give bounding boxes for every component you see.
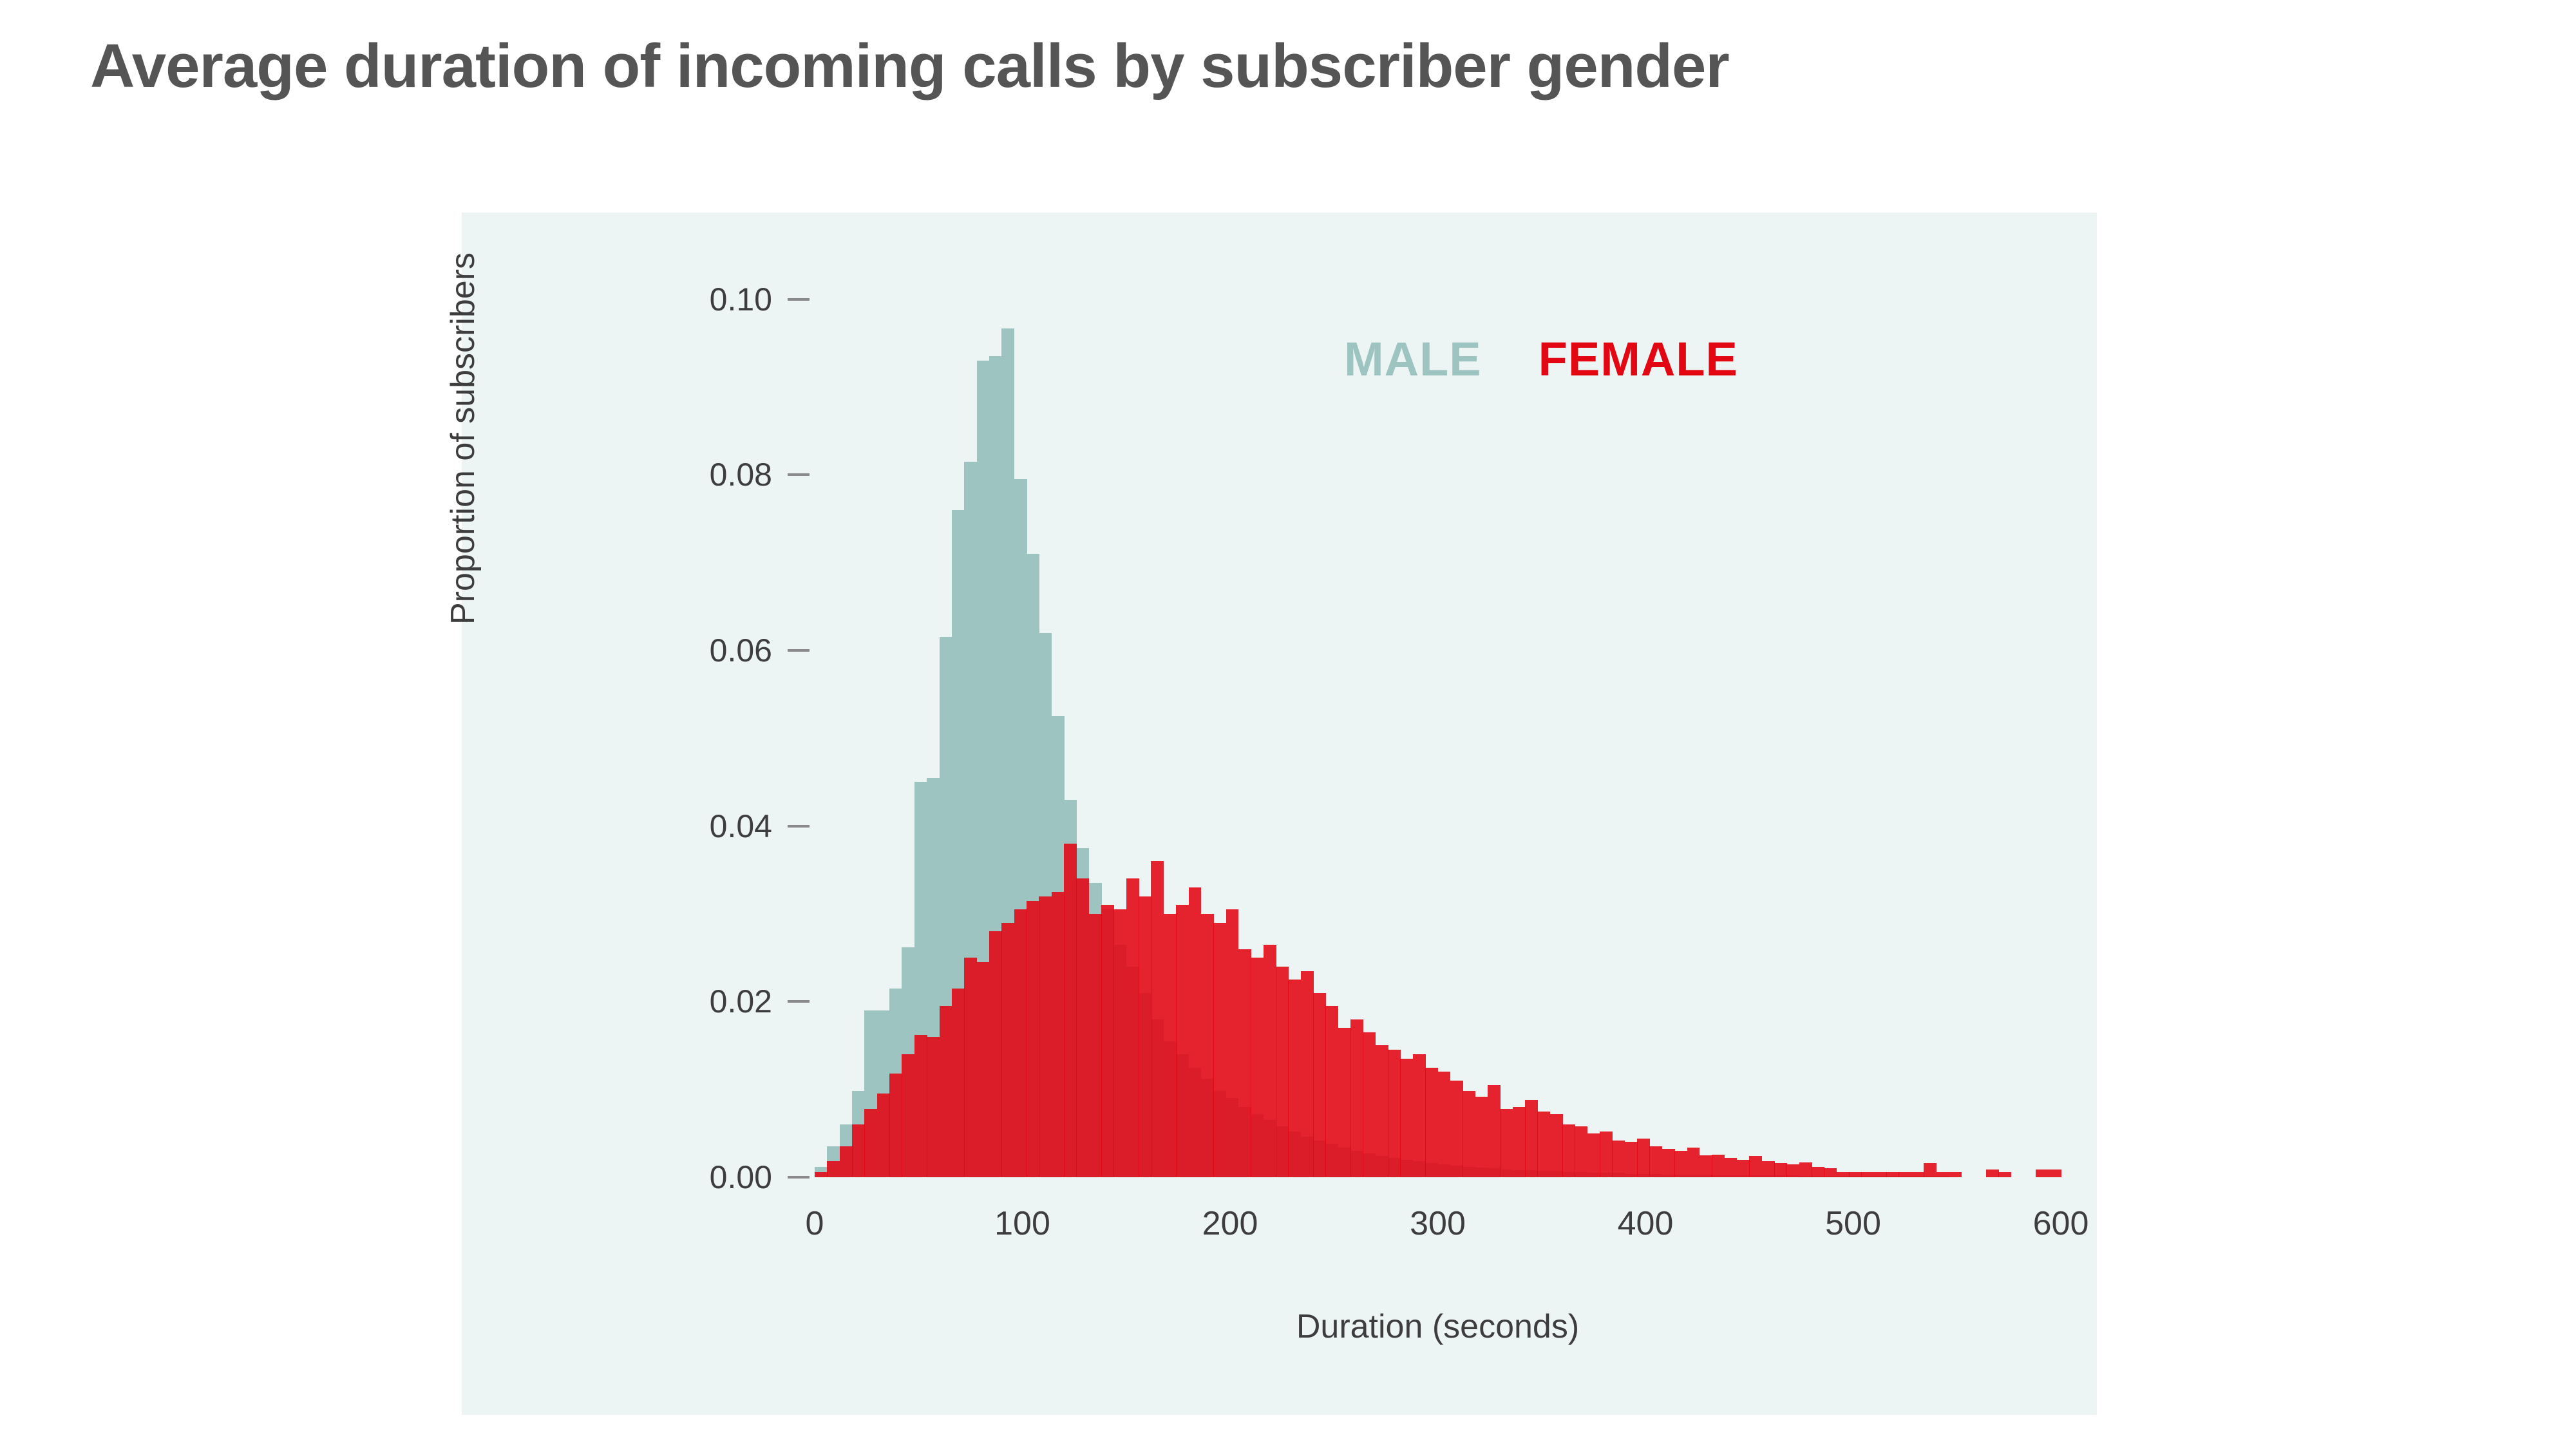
legend-item-female[interactable]: FEMALE xyxy=(1539,332,1738,386)
histogram-bar-female xyxy=(1438,1072,1451,1177)
histogram-bar-female xyxy=(1064,844,1077,1177)
histogram-bar-female xyxy=(1113,909,1126,1177)
histogram-bar-female xyxy=(1388,1050,1401,1177)
x-axis: 0100200300400500600 xyxy=(815,1204,2061,1262)
histogram-bar-female xyxy=(1837,1172,1850,1177)
histogram-bar-female xyxy=(1089,914,1102,1177)
histogram-bar-female xyxy=(1151,861,1164,1177)
histogram-bar-female xyxy=(1313,993,1326,1177)
histogram-bar-female xyxy=(1338,1028,1351,1177)
histogram-bar-female xyxy=(902,1054,914,1177)
y-axis-tick-mark xyxy=(788,298,810,301)
histogram-bar-female xyxy=(989,931,1002,1177)
histogram-bar-female xyxy=(1350,1019,1363,1177)
histogram-bar-female xyxy=(1899,1172,1911,1177)
histogram-bar-female xyxy=(1575,1126,1587,1177)
histogram-bar-female xyxy=(964,958,977,1177)
histogram-bar-female xyxy=(1949,1172,1962,1177)
histogram-bar-female xyxy=(1924,1163,1937,1177)
x-axis-title: Duration (seconds) xyxy=(815,1307,2061,1346)
histogram-bar-female xyxy=(1886,1172,1899,1177)
histogram-bar-female xyxy=(927,1037,940,1177)
y-axis-tick-mark xyxy=(788,825,810,828)
histogram-bar-female xyxy=(977,962,990,1177)
histogram-bar-female xyxy=(1998,1172,2011,1177)
histogram-bar-female xyxy=(1301,971,1314,1177)
histogram-bar-female xyxy=(1164,914,1177,1177)
histogram-bar-female xyxy=(877,1094,890,1177)
x-axis-tick-label: 100 xyxy=(994,1204,1050,1243)
y-axis-tick-mark xyxy=(788,473,810,476)
histogram-bar-female xyxy=(1762,1161,1775,1177)
histogram-bar-female xyxy=(1786,1164,1799,1177)
histogram-bar-female xyxy=(1911,1172,1924,1177)
x-axis-tick-label: 500 xyxy=(1825,1204,1881,1243)
histogram-bar-female xyxy=(1201,914,1214,1177)
histogram-bar-female xyxy=(1725,1158,1738,1177)
histogram-bar-female xyxy=(1213,923,1226,1177)
histogram-bar-female xyxy=(1076,878,1089,1177)
histogram-bar-female xyxy=(1425,1068,1438,1177)
histogram-bar-female xyxy=(1276,967,1289,1177)
histogram-bar-female xyxy=(1687,1148,1700,1177)
histogram-bar-female xyxy=(1139,896,1151,1177)
histogram-bar-female xyxy=(1550,1114,1563,1177)
histogram-bar-female xyxy=(1376,1045,1388,1177)
histogram-bar-female xyxy=(914,1035,927,1177)
page-title: Average duration of incoming calls by su… xyxy=(90,31,1729,102)
histogram-bars xyxy=(815,264,2061,1177)
histogram-bar-female xyxy=(2049,1170,2061,1177)
histogram-bar-female xyxy=(1288,980,1301,1177)
histogram-bar-female xyxy=(1649,1146,1662,1177)
x-axis-tick-label: 400 xyxy=(1618,1204,1674,1243)
histogram-bar-female xyxy=(1637,1139,1650,1177)
histogram-bar-female xyxy=(1039,896,1052,1177)
histogram-bar-female xyxy=(1700,1155,1712,1177)
histogram-bar-female xyxy=(1600,1132,1613,1177)
histogram-bar-female xyxy=(1662,1149,1675,1177)
histogram-bar-female xyxy=(1450,1081,1463,1177)
histogram-bar-female xyxy=(940,1006,952,1177)
histogram-bar-female xyxy=(1612,1141,1625,1177)
histogram-bar-female xyxy=(1587,1133,1600,1177)
x-axis-tick-label: 200 xyxy=(1202,1204,1258,1243)
y-axis-tick-label: 0.10 xyxy=(710,281,772,318)
histogram-bar-female xyxy=(1625,1142,1638,1177)
histogram-bar-female xyxy=(1475,1097,1488,1177)
y-axis-tick-mark xyxy=(788,1176,810,1179)
histogram-bar-female xyxy=(1052,892,1065,1177)
histogram-bar-female xyxy=(1849,1172,1862,1177)
y-axis-tick-mark xyxy=(788,649,810,652)
histogram-bar-female xyxy=(889,1074,902,1177)
histogram-bar-female xyxy=(1986,1170,1999,1177)
histogram-bar-female xyxy=(815,1172,828,1177)
histogram-bar-female xyxy=(1400,1059,1413,1177)
histogram-bar-female xyxy=(1238,949,1251,1178)
y-axis-tick-mark xyxy=(788,1000,810,1003)
histogram-bar-female xyxy=(1737,1160,1750,1177)
histogram-bar-female xyxy=(1861,1172,1874,1177)
histogram-bar-female xyxy=(2036,1170,2049,1177)
y-axis-tick-label: 0.02 xyxy=(710,983,772,1020)
histogram-bar-female xyxy=(1001,923,1014,1177)
histogram-bar-female xyxy=(1774,1163,1787,1177)
y-axis: Proportion of subscribers 0.000.020.040.… xyxy=(462,213,815,1415)
histogram-bar-female xyxy=(1101,905,1114,1177)
y-axis-title: Proportion of subscribers xyxy=(444,252,482,625)
histogram-bar-female xyxy=(1363,1032,1376,1177)
histogram-bar-female xyxy=(1799,1162,1812,1177)
histogram-bar-female xyxy=(1674,1151,1687,1177)
histogram-bar-female xyxy=(1824,1168,1837,1177)
histogram-bar-female xyxy=(1488,1085,1501,1177)
histogram-bar-female xyxy=(1463,1091,1475,1177)
histogram-bar-female xyxy=(1874,1172,1887,1177)
y-axis-tick-label: 0.00 xyxy=(710,1159,772,1196)
y-axis-tick-label: 0.04 xyxy=(710,808,772,845)
histogram-bar-female xyxy=(1537,1112,1550,1177)
histogram-bar-female xyxy=(840,1146,853,1177)
histogram-bar-female xyxy=(1126,878,1139,1177)
histogram-bar-female xyxy=(1749,1156,1762,1177)
histogram-bar-female xyxy=(827,1161,840,1177)
y-axis-tick-label: 0.06 xyxy=(710,632,772,669)
histogram-bar-female xyxy=(1251,958,1264,1177)
plot-area xyxy=(815,264,2061,1177)
x-axis-tick-label: 600 xyxy=(2033,1204,2089,1243)
histogram-bar-female xyxy=(852,1124,865,1177)
legend-item-male[interactable]: MALE xyxy=(1344,332,1482,386)
histogram-bar-female xyxy=(1812,1167,1824,1177)
histogram-bar-female xyxy=(1562,1124,1575,1177)
histogram-bar-female xyxy=(864,1109,877,1177)
x-axis-tick-label: 300 xyxy=(1410,1204,1466,1243)
x-axis-tick-label: 0 xyxy=(806,1204,824,1243)
histogram-bar-female xyxy=(1189,887,1202,1177)
histogram-bar-female xyxy=(1027,901,1039,1177)
histogram-bar-female xyxy=(1525,1100,1538,1177)
histogram-bar-female xyxy=(1325,1006,1338,1177)
histogram-bar-female xyxy=(1712,1155,1725,1177)
histogram-bar-female xyxy=(1513,1107,1526,1177)
y-axis-tick-label: 0.08 xyxy=(710,456,772,493)
histogram-bar-female xyxy=(1226,909,1239,1177)
histogram-bar-female xyxy=(1264,945,1276,1177)
chart-legend: MALE FEMALE xyxy=(1344,332,1738,386)
histogram-bar-female xyxy=(1413,1054,1426,1177)
histogram-bar-female xyxy=(952,989,965,1177)
histogram-bar-female xyxy=(1014,909,1027,1177)
histogram-bar-female xyxy=(1500,1109,1513,1177)
chart-panel: Proportion of subscribers 0.000.020.040.… xyxy=(462,213,2097,1415)
histogram-bar-female xyxy=(1937,1172,1949,1177)
histogram-bar-female xyxy=(1176,905,1189,1177)
